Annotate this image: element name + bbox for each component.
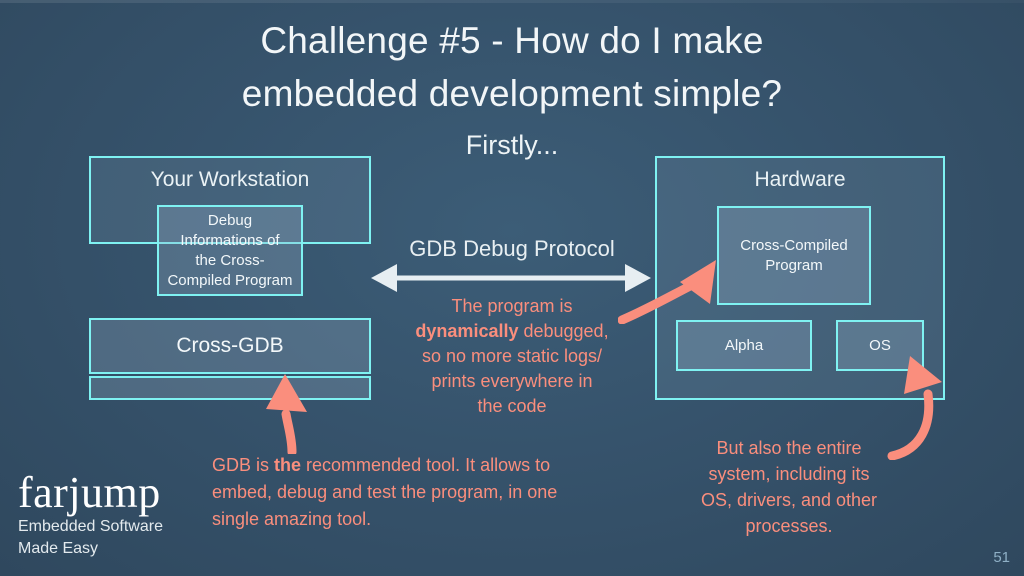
workstation-empty-band	[89, 376, 371, 400]
page-title-line-2: embedded development simple?	[0, 67, 1024, 120]
annotation-center-after-bold: debugged,	[518, 321, 608, 341]
page-title: Challenge #5 - How do I make embedded de…	[0, 14, 1024, 120]
alpha-box: Alpha	[676, 320, 812, 371]
farjump-logo: farjump Embedded Software Made Easy	[18, 470, 163, 560]
cross-gdb-band: Cross-GDB	[89, 318, 371, 374]
annotation-right-line-1: But also the entire	[664, 435, 914, 461]
annotation-right-line-4: processes.	[664, 513, 914, 539]
gdb-debug-protocol-label: GDB Debug Protocol	[371, 236, 653, 262]
os-label: OS	[869, 336, 891, 356]
logo-tagline-line-1: Embedded Software	[18, 516, 163, 538]
os-box: OS	[836, 320, 924, 371]
annotation-center-line-2: dynamically debugged,	[386, 319, 638, 344]
annotation-right-line-3: OS, drivers, and other	[664, 487, 914, 513]
debug-box-line-3: the Cross-	[167, 251, 292, 271]
annotation-center-line-3: so no more static logs/	[386, 344, 638, 369]
annotation-left-before-bold: GDB is	[212, 455, 274, 475]
cross-gdb-label: Cross-GDB	[176, 334, 283, 358]
annotation-right: But also the entire system, including it…	[664, 435, 914, 539]
alpha-label: Alpha	[725, 336, 763, 356]
annotation-center-bold: dynamically	[415, 321, 518, 341]
page-title-line-1: Challenge #5 - How do I make	[0, 14, 1024, 67]
annotation-center-line-4: prints everywhere in	[386, 369, 638, 394]
annotation-right-line-2: system, including its	[664, 461, 914, 487]
program-box-line-1: Cross-Compiled	[740, 236, 848, 256]
gdb-protocol-double-arrow-icon	[371, 262, 651, 294]
annotation-center-line-1: The program is	[386, 294, 638, 319]
logo-tagline-line-2: Made Easy	[18, 538, 163, 560]
debug-informations-box: Debug Informations of the Cross- Compile…	[157, 205, 303, 296]
page-number: 51	[993, 549, 1010, 566]
debug-box-line-1: Debug	[167, 211, 292, 231]
annotation-left: GDB is the recommended tool. It allows t…	[212, 452, 604, 533]
annotation-left-bold: the	[274, 455, 301, 475]
cross-compiled-program-box: Cross-Compiled Program	[717, 206, 871, 305]
annotation-center-line-5: the code	[386, 394, 638, 419]
logo-wordmark: farjump	[18, 470, 163, 516]
slide-canvas: Challenge #5 - How do I make embedded de…	[0, 0, 1024, 576]
hardware-panel-title: Hardware	[657, 168, 943, 192]
debug-box-line-4: Compiled Program	[167, 271, 292, 291]
annotation-center: The program is dynamically debugged, so …	[386, 294, 638, 419]
program-box-line-2: Program	[740, 256, 848, 276]
debug-box-line-2: Informations of	[167, 231, 292, 251]
workstation-panel-title: Your Workstation	[91, 168, 369, 192]
